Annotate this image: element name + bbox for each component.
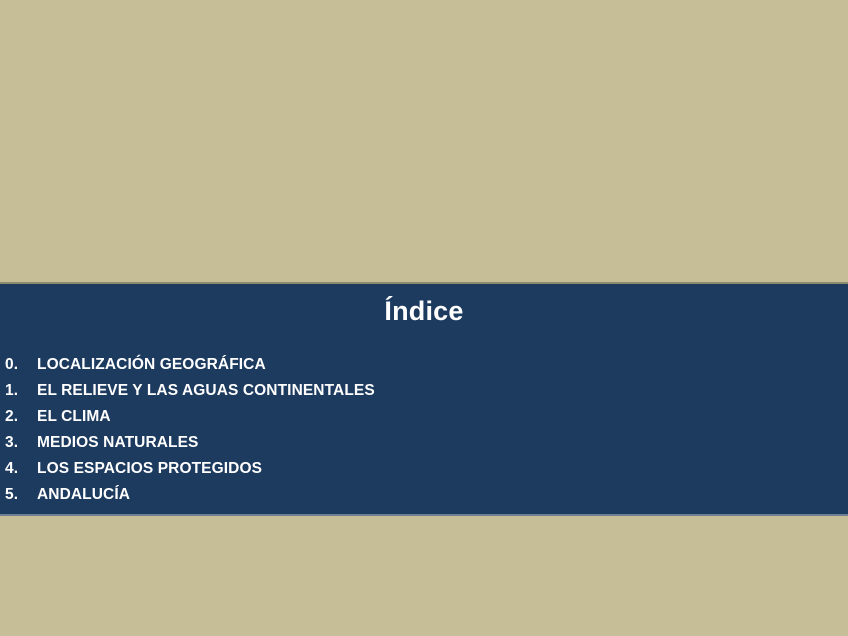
list-item-label: MEDIOS NATURALES: [37, 434, 198, 452]
list-item[interactable]: 3. MEDIOS NATURALES: [0, 434, 848, 460]
list-item[interactable]: 0. LOCALIZACIÓN GEOGRÁFICA: [0, 356, 848, 382]
list-item-number: 0.: [5, 356, 37, 374]
list-item-label: ANDALUCÍA: [37, 486, 130, 504]
slide-canvas: Índice 0. LOCALIZACIÓN GEOGRÁFICA 1. EL …: [0, 0, 848, 636]
index-list: 0. LOCALIZACIÓN GEOGRÁFICA 1. EL RELIEVE…: [0, 356, 848, 512]
list-item-number: 2.: [5, 408, 37, 426]
list-item-number: 4.: [5, 460, 37, 478]
page-title: Índice: [0, 294, 848, 328]
list-item[interactable]: 1. EL RELIEVE Y LAS AGUAS CONTINENTALES: [0, 382, 848, 408]
list-item-number: 5.: [5, 486, 37, 504]
list-item-number: 1.: [5, 382, 37, 400]
panel-bottom-divider: [0, 514, 848, 516]
list-item[interactable]: 4. LOS ESPACIOS PROTEGIDOS: [0, 460, 848, 486]
list-item-label: LOS ESPACIOS PROTEGIDOS: [37, 460, 262, 478]
index-panel: Índice 0. LOCALIZACIÓN GEOGRÁFICA 1. EL …: [0, 284, 848, 514]
list-item-label: LOCALIZACIÓN GEOGRÁFICA: [37, 356, 266, 374]
list-item-label: EL RELIEVE Y LAS AGUAS CONTINENTALES: [37, 382, 375, 400]
list-item[interactable]: 2. EL CLIMA: [0, 408, 848, 434]
list-item[interactable]: 5. ANDALUCÍA: [0, 486, 848, 512]
list-item-label: EL CLIMA: [37, 408, 111, 426]
list-item-number: 3.: [5, 434, 37, 452]
